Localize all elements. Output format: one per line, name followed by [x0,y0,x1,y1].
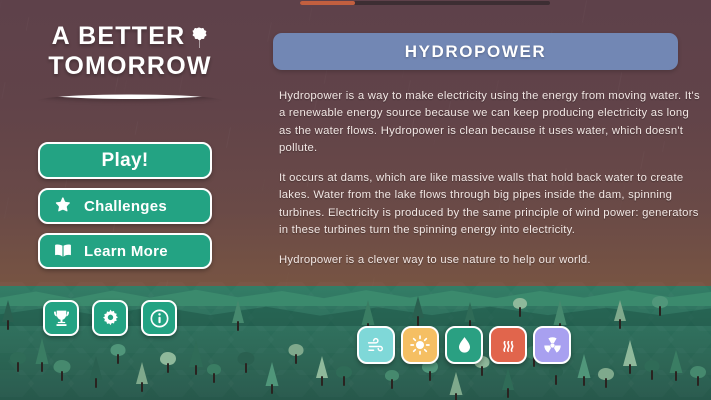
tree [232,300,244,331]
gear-icon [100,308,121,329]
water-drop-icon [454,335,475,356]
learn-more-button-label: Learn More [84,243,168,260]
tree [189,340,203,375]
learn-more-button[interactable]: Learn More [38,233,212,269]
wind-icon [366,335,387,356]
article-panel: HYDROPOWER Hydropower is a way to make e… [273,0,711,400]
logo-line-1: A BETTER [52,24,186,49]
logo-line-2: TOMORROW [22,54,238,79]
progress-bar [300,1,550,5]
logo-underline [37,86,223,99]
tree [111,344,126,364]
star-icon [48,191,78,221]
utility-button-bar [43,300,177,336]
leaf-icon [190,26,208,48]
tree [54,360,71,381]
achievements-button[interactable] [43,300,79,336]
info-icon [149,308,170,329]
heat-waves-icon [498,335,519,356]
book-icon [48,236,78,266]
game-screen: A BETTER TOMORROW Play! Challenges [0,0,711,400]
article-paragraph: Hydropower is a clever way to use nature… [279,252,704,269]
play-button[interactable]: Play! [38,142,212,179]
article-paragraph: It occurs at dams, which are like massiv… [279,170,704,239]
settings-button[interactable] [92,300,128,336]
tree [90,356,103,388]
energy-category-bar [357,326,571,364]
tree [2,300,14,330]
category-button-wind[interactable] [357,326,395,364]
play-button-label: Play! [102,150,149,172]
tree [36,338,49,372]
tree [238,352,255,373]
category-button-geothermal[interactable] [489,326,527,364]
main-menu: Play! Challenges Learn More [38,142,212,278]
info-button[interactable] [141,300,177,336]
tree [207,364,221,383]
tree [10,352,26,372]
category-button-solar[interactable] [401,326,439,364]
tree [136,362,148,392]
article-body: Hydropower is a way to make electricity … [279,88,704,283]
trophy-icon [51,308,72,329]
article-paragraph: Hydropower is a way to make electricity … [279,88,704,157]
article-title-bar: HYDROPOWER [273,33,678,70]
page-title: HYDROPOWER [405,42,547,62]
sun-icon [409,334,431,356]
category-button-nuclear[interactable] [533,326,571,364]
tree [160,352,176,373]
challenges-button-label: Challenges [84,198,167,215]
radiation-icon [542,335,563,356]
challenges-button[interactable]: Challenges [38,188,212,224]
category-button-hydro[interactable] [445,326,483,364]
progress-bar-fill [300,1,355,5]
game-logo: A BETTER TOMORROW [22,24,238,99]
